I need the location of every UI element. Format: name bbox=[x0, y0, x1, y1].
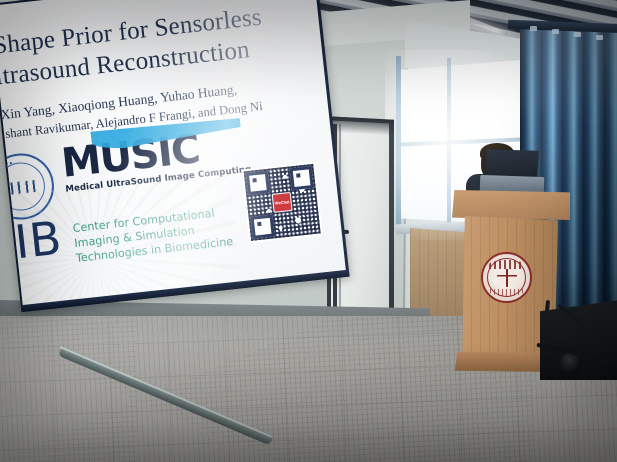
laptop-screen bbox=[485, 149, 539, 178]
presentation-room-photo: t and Shape Prior for Sensorless 3D Ultr… bbox=[0, 0, 617, 462]
window-frame-left bbox=[396, 56, 401, 228]
curtain-hook bbox=[574, 32, 581, 37]
qr-finder-icon bbox=[290, 166, 314, 190]
curtain-hook bbox=[530, 26, 537, 31]
podium-top bbox=[452, 190, 570, 220]
podium-seal-emblem bbox=[481, 252, 532, 303]
seal-bottom-text bbox=[490, 289, 523, 296]
cistib-description: Center for Computational Imaging & Simul… bbox=[72, 203, 256, 267]
curtain-hook bbox=[596, 35, 603, 40]
projection-screen: t and Shape Prior for Sensorless 3D Ultr… bbox=[0, 0, 350, 312]
qr-finder-icon bbox=[251, 215, 275, 239]
qr-code[interactable]: WeChat bbox=[241, 162, 323, 244]
seal-center-mark bbox=[497, 269, 517, 287]
screen-surface: t and Shape Prior for Sensorless 3D Ultr… bbox=[0, 0, 346, 306]
presentation-slide: t and Shape Prior for Sensorless 3D Ultr… bbox=[0, 0, 346, 306]
qr-badge-label: WeChat bbox=[275, 200, 290, 206]
curtain-hook bbox=[552, 29, 559, 34]
qr-finder-icon bbox=[246, 171, 270, 195]
qr-center-badge: WeChat bbox=[272, 192, 293, 213]
